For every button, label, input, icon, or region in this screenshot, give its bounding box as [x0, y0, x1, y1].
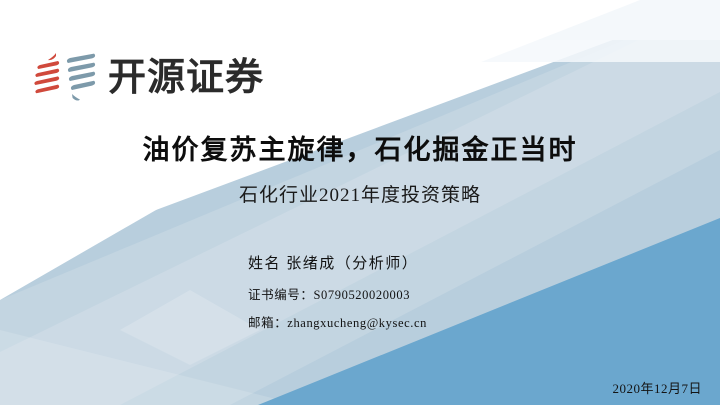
flame-mark-left-red: [34, 53, 59, 93]
page-subtitle: 石化行业2021年度投资策略: [0, 180, 720, 207]
brand-logo-text: 开源证券: [108, 59, 264, 97]
band-top-pale: [480, 0, 720, 40]
kaiyuan-flame-mark-icon: [34, 51, 102, 105]
author-info-block: 姓名 张绪成（分析师） 证书编号：S0790520020003 邮箱：zhang…: [248, 252, 578, 340]
slide-date: 2020年12月7日: [612, 378, 702, 397]
band-top-pale-2: [300, 0, 720, 62]
presentation-title-slide: 开源证券 油价复苏主旋律，石化掘金正当时 石化行业2021年度投资策略 姓名 张…: [0, 0, 720, 405]
page-title: 油价复苏主旋律，石化掘金正当时: [0, 128, 720, 167]
band-faint-chevron: [120, 290, 260, 365]
analyst-name: 姓名 张绪成（分析师）: [248, 252, 578, 273]
band-faint-sheen: [0, 330, 300, 405]
analyst-email: 邮箱：zhangxucheng@kysec.cn: [248, 312, 578, 331]
band-white-header-soft: [0, 0, 640, 250]
brand-logo: 开源证券: [34, 50, 264, 106]
analyst-certificate-number: 证书编号：S0790520020003: [248, 284, 578, 303]
flame-mark-right-blue: [67, 54, 95, 101]
